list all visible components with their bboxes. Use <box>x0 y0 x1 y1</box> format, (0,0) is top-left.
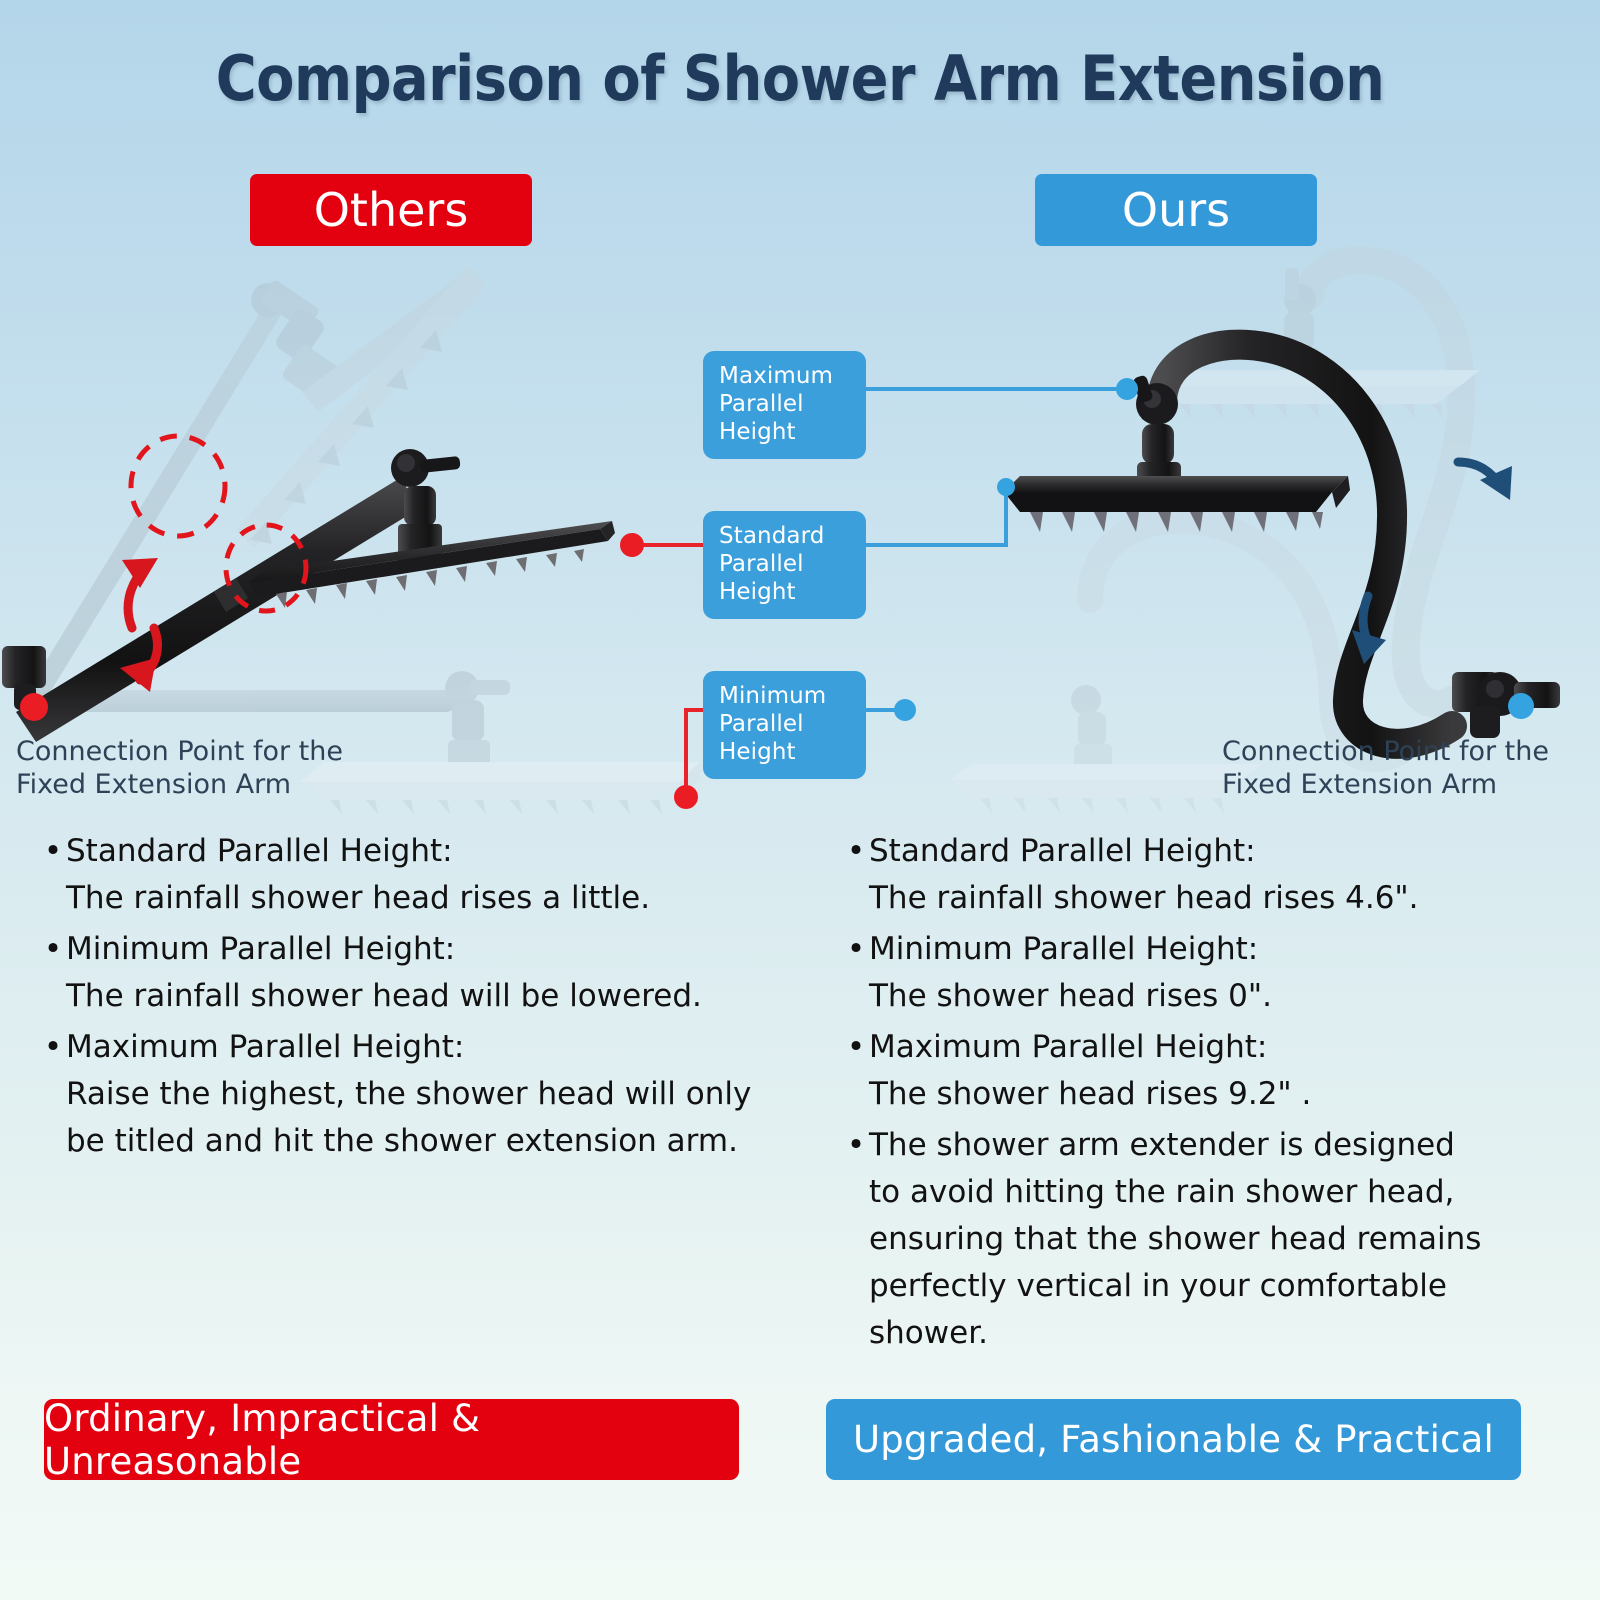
bullet-body: Maximum Parallel Height:The shower head … <box>869 1024 1533 1118</box>
others-main-arm <box>2 449 615 742</box>
bullet-body: Maximum Parallel Height:Raise the highes… <box>66 1024 770 1165</box>
bullet-item: •Standard Parallel Height:The rainfall s… <box>843 828 1533 922</box>
footer-banner-others: Ordinary, Impractical & Unreasonable <box>44 1399 739 1480</box>
callout-standard-line2: Parallel Height <box>719 550 852 606</box>
others-ghost-maximum <box>22 266 486 712</box>
page-title: Comparison of Shower Arm Extension <box>0 42 1600 115</box>
bullet-marker-icon: • <box>40 926 66 1020</box>
ours-gooseneck-arm <box>1162 345 1452 744</box>
bullet-marker-icon: • <box>40 828 66 922</box>
bullet-detail-line: shower. <box>869 1310 1533 1357</box>
badge-others: Others <box>250 174 532 246</box>
rotation-arrow-up <box>122 558 158 628</box>
connection-left-line2: Fixed Extension Arm <box>16 769 346 802</box>
bullet-marker-icon: • <box>843 828 869 922</box>
bullet-heading: Maximum Parallel Height: <box>869 1024 1533 1071</box>
bullet-item: •Minimum Parallel Height:The shower head… <box>843 926 1533 1020</box>
callout-minimum-line1: Minimum <box>719 682 852 710</box>
bullet-detail-line: The rainfall shower head rises 4.6". <box>869 875 1533 922</box>
bullet-body: The shower arm extender is designedto av… <box>869 1122 1533 1357</box>
connection-right-line2: Fixed Extension Arm <box>1222 769 1552 802</box>
leader-maximum <box>866 378 1138 400</box>
ours-ghost-maximum <box>1150 260 1480 704</box>
bullet-body: Minimum Parallel Height:The shower head … <box>869 926 1533 1020</box>
callout-maximum-line1: Maximum <box>719 362 852 390</box>
bullet-detail-line: Raise the highest, the shower head will … <box>66 1071 770 1118</box>
callout-standard-line1: Standard <box>719 522 852 550</box>
bullet-heading: Minimum Parallel Height: <box>66 926 770 973</box>
callout-maximum-parallel-height: Maximum Parallel Height <box>703 351 866 459</box>
connection-dot-left <box>20 693 48 721</box>
rotation-arrow-down-right <box>1352 596 1386 664</box>
bullet-marker-icon: • <box>843 1024 869 1118</box>
bullet-item: •Standard Parallel Height:The rainfall s… <box>40 828 770 922</box>
others-diagram <box>2 266 700 814</box>
bullet-detail-line: The rainfall shower head will be lowered… <box>66 973 770 1020</box>
badge-ours: Ours <box>1035 174 1317 246</box>
bullet-body: Standard Parallel Height:The rainfall sh… <box>869 828 1533 922</box>
connection-dot-right <box>1508 693 1534 719</box>
bullet-detail-line: The shower head rises 9.2" . <box>869 1071 1533 1118</box>
bullet-detail-line: perfectly vertical in your comfortable <box>869 1263 1533 1310</box>
bullet-item: •Maximum Parallel Height:Raise the highe… <box>40 1024 770 1165</box>
footer-banner-ours: Upgraded, Fashionable & Practical <box>826 1399 1521 1480</box>
callout-maximum-line2: Parallel Height <box>719 390 852 446</box>
bullet-marker-icon: • <box>40 1024 66 1165</box>
bullet-detail-line: The rainfall shower head rises a little. <box>66 875 770 922</box>
bullet-heading: Minimum Parallel Height: <box>869 926 1533 973</box>
collision-marker-lower <box>226 525 306 611</box>
bullet-marker-icon: • <box>843 926 869 1020</box>
ours-head-assembly <box>1004 374 1350 532</box>
bullet-detail-line: ensuring that the shower head remains <box>869 1216 1533 1263</box>
connection-point-caption-right: Connection Point for the Fixed Extension… <box>1222 736 1552 802</box>
bullet-item: •Maximum Parallel Height:The shower head… <box>843 1024 1533 1118</box>
rotation-arrow-down <box>120 628 158 692</box>
connection-point-caption-left: Connection Point for the Fixed Extension… <box>16 736 346 802</box>
ours-wall-connector <box>1452 672 1560 738</box>
bullet-detail-line: The shower arm extender is designed <box>869 1122 1533 1169</box>
connection-left-line1: Connection Point for the <box>16 736 346 769</box>
bullet-item: •The shower arm extender is designedto a… <box>843 1122 1533 1357</box>
bullet-body: Minimum Parallel Height:The rainfall sho… <box>66 926 770 1020</box>
rotation-arrow-right <box>1458 462 1512 500</box>
callout-minimum-parallel-height: Minimum Parallel Height <box>703 671 866 779</box>
bullet-list-others: •Standard Parallel Height:The rainfall s… <box>40 828 770 1169</box>
bullet-heading: Maximum Parallel Height: <box>66 1024 770 1071</box>
callout-minimum-line2: Parallel Height <box>719 710 852 766</box>
bullet-body: Standard Parallel Height:The rainfall sh… <box>66 828 770 922</box>
collision-marker-upper <box>131 436 225 536</box>
bullet-detail-line: The shower head rises 0". <box>869 973 1533 1020</box>
bullet-item: •Minimum Parallel Height:The rainfall sh… <box>40 926 770 1020</box>
bullet-detail-line: to avoid hitting the rain shower head, <box>869 1169 1533 1216</box>
bullet-marker-icon: • <box>843 1122 869 1357</box>
bullet-heading: Standard Parallel Height: <box>869 828 1533 875</box>
callout-standard-parallel-height: Standard Parallel Height <box>703 511 866 619</box>
connection-right-line1: Connection Point for the <box>1222 736 1552 769</box>
bullet-detail-line: be titled and hit the shower extension a… <box>66 1118 770 1165</box>
ours-diagram <box>950 260 1560 813</box>
bullet-heading: Standard Parallel Height: <box>66 828 770 875</box>
bullet-list-ours: •Standard Parallel Height:The rainfall s… <box>843 828 1533 1361</box>
